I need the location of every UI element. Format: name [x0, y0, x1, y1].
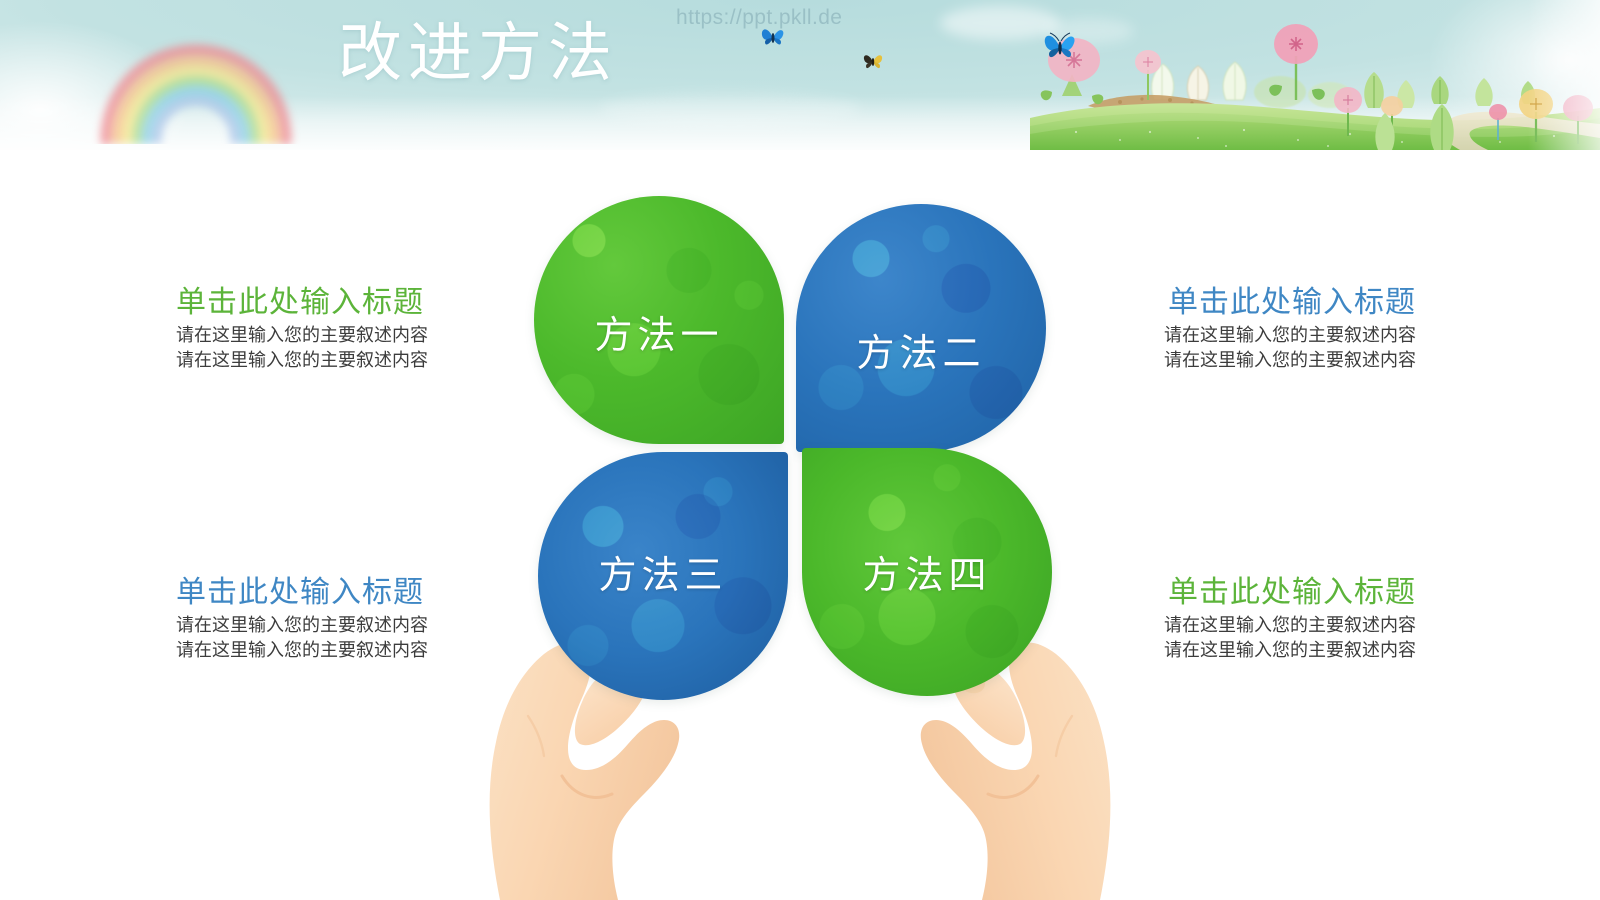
- four-petal-diagram: 方法一 方法二 方法三 方法四: [530, 196, 1040, 696]
- blue-butterfly-icon: [758, 22, 788, 57]
- petal-method-4[interactable]: 方法四: [802, 448, 1052, 696]
- slide-title: 改进方法: [338, 18, 698, 90]
- text-block-body-line-1[interactable]: 请在这里输入您的主要叙述内容: [1106, 324, 1416, 348]
- text-block-top-left: 单击此处输入标题 请在这里输入您的主要叙述内容 请在这里输入您的主要叙述内容: [176, 284, 476, 373]
- petal-method-3[interactable]: 方法三: [538, 452, 788, 700]
- petal-label: 方法三: [538, 544, 788, 599]
- text-block-top-right: 单击此处输入标题 请在这里输入您的主要叙述内容 请在这里输入您的主要叙述内容: [1106, 284, 1416, 373]
- text-block-bottom-left: 单击此处输入标题 请在这里输入您的主要叙述内容 请在这里输入您的主要叙述内容: [176, 574, 476, 663]
- text-block-title[interactable]: 单击此处输入标题: [176, 574, 476, 612]
- text-block-bottom-right: 单击此处输入标题 请在这里输入您的主要叙述内容 请在这里输入您的主要叙述内容: [1106, 574, 1416, 663]
- text-block-body-line-2[interactable]: 请在这里输入您的主要叙述内容: [176, 349, 476, 373]
- rainbow-icon: [88, 14, 304, 144]
- text-block-title[interactable]: 单击此处输入标题: [1106, 574, 1416, 612]
- text-block-title[interactable]: 单击此处输入标题: [1106, 284, 1416, 322]
- yellow-butterfly-icon: [860, 48, 886, 79]
- text-block-body-line-1[interactable]: 请在这里输入您的主要叙述内容: [1106, 614, 1416, 638]
- text-block-body-line-2[interactable]: 请在这里输入您的主要叙述内容: [1106, 349, 1416, 373]
- text-block-body-line-2[interactable]: 请在这里输入您的主要叙述内容: [1106, 639, 1416, 663]
- text-block-body-line-2[interactable]: 请在这里输入您的主要叙述内容: [176, 639, 476, 663]
- petal-label: 方法二: [796, 322, 1046, 377]
- petal-method-1[interactable]: 方法一: [534, 196, 784, 444]
- petal-method-2[interactable]: 方法二: [796, 204, 1046, 452]
- text-block-body-line-1[interactable]: 请在这里输入您的主要叙述内容: [176, 614, 476, 638]
- slide-canvas: 改进方法 https://ppt.pkll.de: [0, 0, 1600, 900]
- text-block-title[interactable]: 单击此处输入标题: [176, 284, 476, 322]
- blue-butterfly-icon: [1040, 26, 1080, 69]
- spring-meadow-illustration: [1030, 0, 1600, 150]
- petal-label: 方法一: [534, 304, 784, 359]
- petal-label: 方法四: [802, 544, 1052, 599]
- text-block-body-line-1[interactable]: 请在这里输入您的主要叙述内容: [176, 324, 476, 348]
